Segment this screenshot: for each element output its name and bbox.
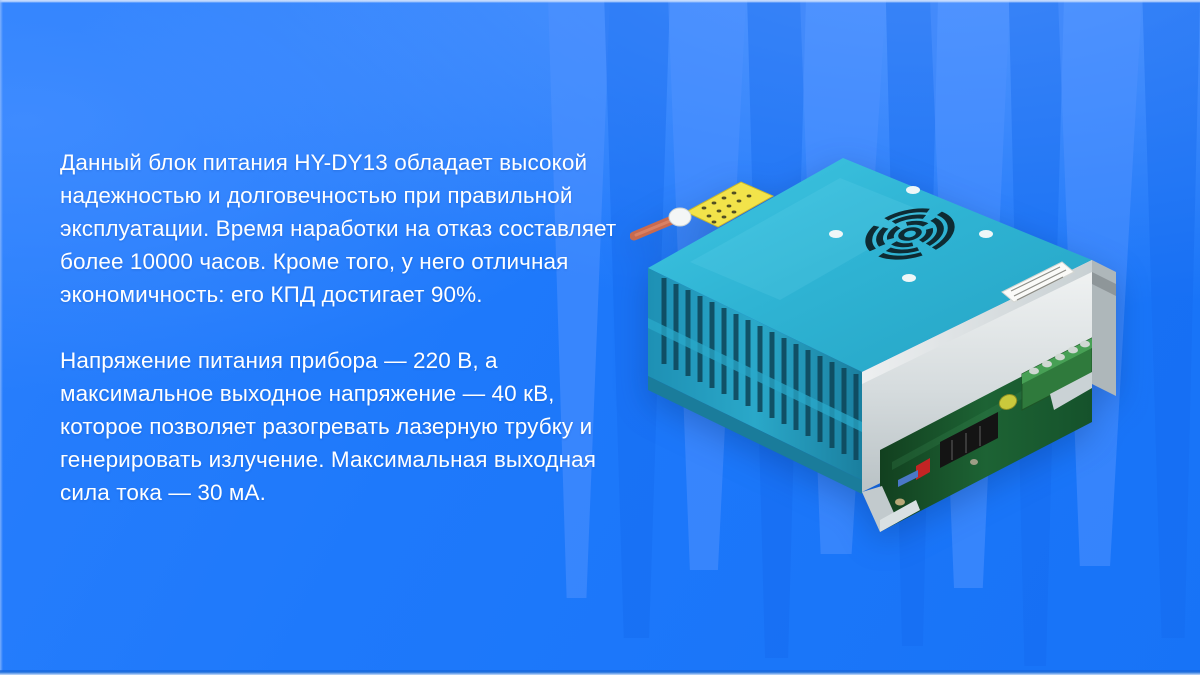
top-edge-highlight — [0, 0, 1200, 3]
pcb-screw-2 — [970, 459, 978, 465]
fan-screw-1 — [906, 186, 920, 194]
cable-grommet — [669, 208, 691, 226]
fan-screw-2 — [829, 230, 843, 238]
pcb-screw-1 — [895, 499, 905, 506]
fan-screw-3 — [979, 230, 993, 238]
paragraph-1: Данный блок питания HY-DY13 обладает выс… — [60, 146, 630, 311]
description-text-block: Данный блок питания HY-DY13 обладает выс… — [60, 146, 630, 509]
left-edge-highlight — [0, 0, 3, 675]
high-voltage-cable — [634, 208, 691, 236]
slide-root: Данный блок питания HY-DY13 обладает выс… — [0, 0, 1200, 675]
psu-illustration — [630, 150, 1150, 540]
paragraph-2: Напряжение питания прибора — 220 В, а ма… — [60, 344, 630, 509]
fan-screw-4 — [902, 274, 916, 282]
product-image-psu — [630, 150, 1150, 540]
bottom-edge-highlight — [0, 670, 1200, 675]
